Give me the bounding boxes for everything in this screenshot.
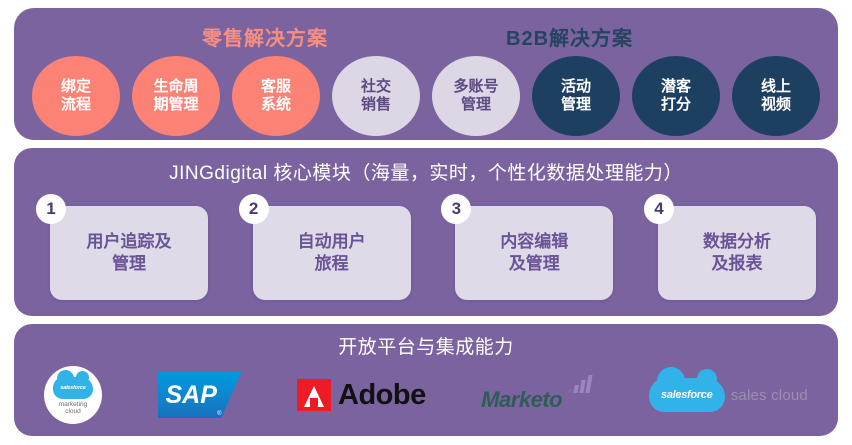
marketing-cloud-sublabel: marketing cloud — [59, 401, 88, 416]
cloud-icon: salesforce — [649, 378, 725, 412]
salesforce-wordmark: salesforce — [60, 385, 85, 391]
open-platform-title: 开放平台与集成能力 — [14, 332, 838, 359]
adobe-wordmark: Adobe — [338, 379, 426, 412]
core-module-card[interactable]: 内容编辑 及管理 — [455, 206, 613, 300]
ellipse-label-line2: 视频 — [761, 96, 791, 114]
core-module-card[interactable]: 自动用户 旅程 — [253, 206, 411, 300]
ellipse-label-line1: 多账号 — [453, 78, 498, 96]
core-module-card[interactable]: 用户追踪及 管理 — [50, 206, 208, 300]
solution-ellipse-row: 绑定 流程 生命周 期管理 客服 系统 社交 销售 多账号 管理 活动 管理 潜… — [32, 56, 820, 136]
core-module-automated-journey[interactable]: 自动用户 旅程 2 — [239, 200, 411, 300]
marketo-wordmark: Marketo — [481, 387, 562, 413]
ellipse-label-line2: 期管理 — [153, 96, 198, 114]
core-card-line2: 及管理 — [509, 253, 560, 275]
core-module-data-analytics[interactable]: 数据分析 及报表 4 — [644, 200, 816, 300]
core-card-line1: 内容编辑 — [500, 231, 568, 253]
core-module-user-tracking[interactable]: 用户追踪及 管理 1 — [36, 200, 208, 300]
marketo-logo: Marketo — [481, 373, 593, 417]
ascending-bars-icon — [568, 375, 593, 393]
ellipse-label-line1: 客服 — [261, 78, 291, 96]
ellipse-label-line1: 社交 — [361, 78, 391, 96]
sublabel-line1: marketing — [59, 401, 88, 408]
core-module-number-badge: 4 — [644, 194, 674, 224]
solution-ellipse-online-video[interactable]: 线上 视频 — [732, 56, 820, 136]
ellipse-label-line2: 管理 — [561, 96, 591, 114]
ellipse-label-line1: 线上 — [761, 78, 791, 96]
ellipse-label-line2: 流程 — [61, 96, 91, 114]
open-platform-panel: 开放平台与集成能力 salesforce marketing cloud SAP… — [14, 324, 838, 436]
core-card-line2: 旅程 — [315, 253, 349, 275]
core-card-line1: 自动用户 — [298, 231, 366, 253]
core-modules-panel: JINGdigital 核心模块（海量，实时，个性化数据处理能力） 用户追踪及 … — [14, 148, 838, 316]
core-module-number-badge: 1 — [36, 194, 66, 224]
solution-ellipse-social-selling[interactable]: 社交 销售 — [332, 56, 420, 136]
ellipse-label-line1: 生命周 — [153, 78, 198, 96]
salesforce-wordmark: salesforce — [661, 389, 712, 401]
registered-trademark-icon: ® — [217, 411, 221, 417]
salesforce-sales-cloud-logo: salesforce sales cloud — [649, 378, 808, 412]
adobe-logo: Adobe — [297, 379, 426, 412]
core-card-line2: 及报表 — [711, 253, 762, 275]
sales-cloud-sublabel: sales cloud — [731, 387, 808, 404]
partner-logo-row: salesforce marketing cloud SAP ® Adobe M… — [44, 366, 808, 424]
ellipse-label-line2: 系统 — [261, 96, 291, 114]
ellipse-label-line2: 销售 — [361, 96, 391, 114]
b2b-solutions-heading: B2B解决方案 — [506, 22, 633, 51]
sap-wordmark: SAP — [166, 381, 217, 410]
core-module-content-editing[interactable]: 内容编辑 及管理 3 — [441, 200, 613, 300]
ellipse-label-line1: 活动 — [561, 78, 591, 96]
solution-ellipse-campaign-management[interactable]: 活动 管理 — [532, 56, 620, 136]
sublabel-line2: cloud — [59, 408, 88, 415]
adobe-a-icon — [297, 379, 331, 411]
core-card-line2: 管理 — [112, 253, 146, 275]
solution-ellipse-lead-scoring[interactable]: 潜客 打分 — [632, 56, 720, 136]
solutions-panel: 零售解决方案 B2B解决方案 绑定 流程 生命周 期管理 客服 系统 社交 销售… — [14, 8, 838, 140]
ellipse-label-line2: 管理 — [461, 96, 491, 114]
salesforce-marketing-cloud-logo: salesforce marketing cloud — [44, 366, 102, 424]
solution-ellipse-binding-process[interactable]: 绑定 流程 — [32, 56, 120, 136]
core-module-card[interactable]: 数据分析 及报表 — [658, 206, 816, 300]
core-card-line1: 用户追踪及 — [87, 231, 172, 253]
core-card-line1: 数据分析 — [703, 231, 771, 253]
core-modules-card-row: 用户追踪及 管理 1 自动用户 旅程 2 内容编辑 及管理 3 数据分析 及报表 — [36, 200, 816, 300]
core-modules-title: JINGdigital 核心模块（海量，实时，个性化数据处理能力） — [14, 158, 838, 185]
sap-badge-shape: SAP — [158, 372, 242, 418]
core-module-number-badge: 2 — [239, 194, 269, 224]
ellipse-label-line1: 潜客 — [661, 78, 691, 96]
solution-ellipse-customer-service[interactable]: 客服 系统 — [232, 56, 320, 136]
sap-logo: SAP ® — [158, 372, 242, 418]
solution-ellipse-multi-account-management[interactable]: 多账号 管理 — [432, 56, 520, 136]
ellipse-label-line2: 打分 — [661, 96, 691, 114]
solution-ellipse-lifecycle-management[interactable]: 生命周 期管理 — [132, 56, 220, 136]
retail-solutions-heading: 零售解决方案 — [202, 22, 328, 51]
cloud-icon: salesforce — [53, 377, 93, 399]
ellipse-label-line1: 绑定 — [61, 78, 91, 96]
